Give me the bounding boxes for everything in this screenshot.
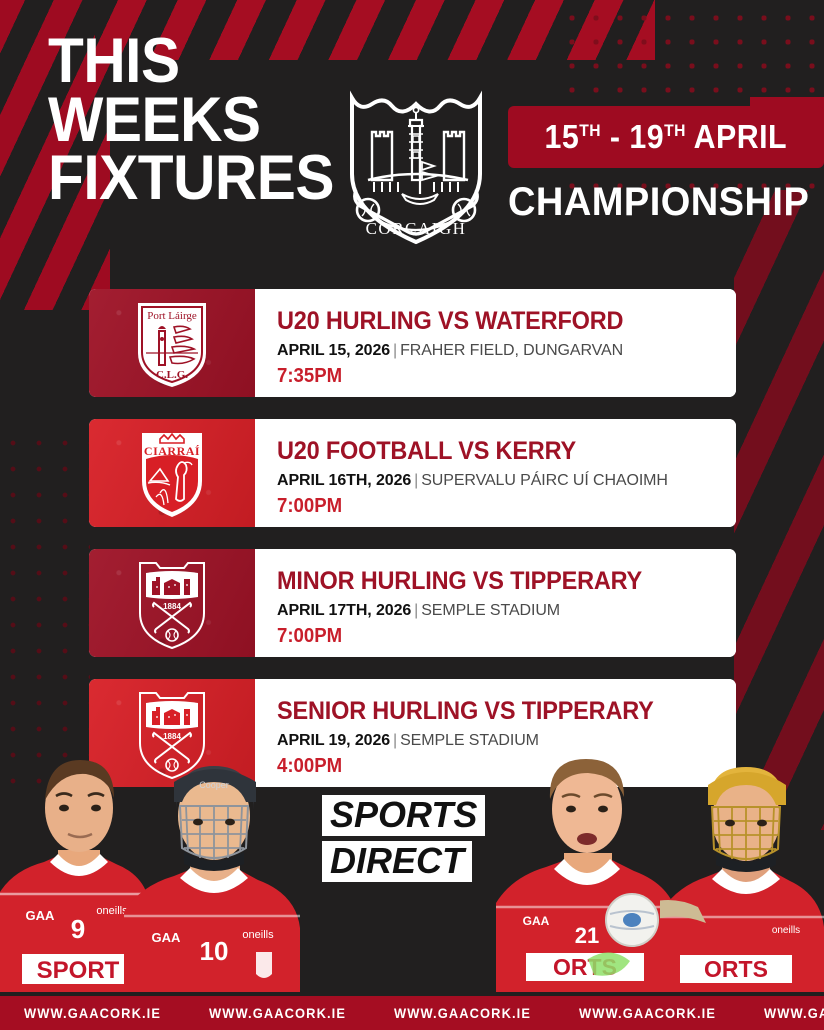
fixture-meta: APRIL 17TH, 2026|SEMPLE STADIUM <box>277 602 736 620</box>
player-photos-group: 9 GAA oneills SPORT Cooper 10 GAA oneill… <box>0 732 824 992</box>
footer-url[interactable]: WWW.GAACORK.IE <box>7 1005 177 1021</box>
fixture-date: APRIL 16TH, 2026 <box>277 472 411 489</box>
fixtures-poster: THIS WEEKS FIXTURES <box>0 0 824 1030</box>
cork-hurler-yellow-helmet: ORTS oneills <box>660 747 824 992</box>
kerry-crest-icon: CIARRAÍ <box>126 425 218 521</box>
competition-label: CHAMPIONSHIP <box>508 180 812 225</box>
jersey-number: 21 <box>575 923 599 948</box>
sponsor-line-2: DIRECT <box>322 841 472 882</box>
opponent-crest-panel: Port Láirge C.L.G. <box>89 289 255 397</box>
crest-year-label: 1884 <box>163 732 181 741</box>
football-icon <box>604 892 660 948</box>
fixture-venue: SUPERVALU PÁIRC UÍ CHAOIMH <box>421 472 668 489</box>
footer-url[interactable]: WWW.GAACORK.IE <box>192 1005 362 1021</box>
gaa-logo: GAA <box>523 914 550 928</box>
sports-direct-logo: SPORTS DIRECT <box>322 795 485 882</box>
oneills-brand: oneills <box>772 925 800 936</box>
footer-url-bar: WWW.GAACORK.IE WWW.GAACORK.IE WWW.GAACOR… <box>0 996 824 1030</box>
footer-url[interactable]: WWW.GAACORK.IE <box>747 1005 824 1021</box>
cork-gaa-crest-icon: CORCAIGH <box>338 82 498 250</box>
fixtures-list: Port Láirge C.L.G. U20 HURLING VS WATERF… <box>89 289 736 809</box>
fixture-meta: APRIL 16TH, 2026|SUPERVALU PÁIRC UÍ CHAO… <box>277 472 736 490</box>
page-title: THIS WEEKS FIXTURES <box>48 32 334 208</box>
fixture-meta: APRIL 15, 2026|FRAHER FIELD, DUNGARVAN <box>277 342 736 360</box>
fixture-title: U20 FOOTBALL VS KERRY <box>277 438 708 464</box>
fixture-title: MINOR HURLING VS TIPPERARY <box>277 568 708 594</box>
sponsor-line-1: SPORTS <box>322 795 485 836</box>
fixture-separator: | <box>393 342 397 359</box>
jersey-sponsor: SPORT <box>37 957 120 984</box>
fixture-time: 7:35PM <box>277 365 704 388</box>
date-range-badge: 15TH - 19TH APRIL <box>508 106 824 168</box>
date-range-label: 15TH - 19TH APRIL <box>545 118 787 156</box>
opponent-crest-panel: CIARRAÍ <box>89 419 255 527</box>
crest-bottom-label: C.L.G. <box>156 369 188 381</box>
footer-url[interactable]: WWW.GAACORK.IE <box>377 1005 547 1021</box>
fixture-separator: | <box>414 472 418 489</box>
fixture-venue: FRAHER FIELD, DUNGARVAN <box>400 342 623 359</box>
jersey-number: 9 <box>71 914 85 944</box>
footer-url[interactable]: WWW.GAACORK.IE <box>562 1005 732 1021</box>
fixture-title: U20 HURLING VS WATERFORD <box>277 308 708 334</box>
fixture-details: U20 HURLING VS WATERFORD APRIL 15, 2026|… <box>255 289 736 397</box>
crest-year-label: 1884 <box>163 602 181 611</box>
waterford-crest-icon: Port Láirge C.L.G. <box>126 295 218 391</box>
fixture-title: SENIOR HURLING VS TIPPERARY <box>277 698 708 724</box>
fixture-card[interactable]: 1884 MINOR HURLING VS TIPPERARY APRIL 17… <box>89 549 736 657</box>
jersey-sponsor: ORTS <box>704 956 768 982</box>
fixture-time: 7:00PM <box>277 625 704 648</box>
cork-hurler-number-10: Cooper 10 GAA oneills <box>118 752 304 992</box>
crest-motto-text: CORCAIGH <box>366 219 467 238</box>
crest-top-label: Port Láirge <box>147 310 197 322</box>
fixture-details: U20 FOOTBALL VS KERRY APRIL 16TH, 2026|S… <box>255 419 736 527</box>
cork-footballer-number-21: 21 GAA oneills ORTS <box>492 747 682 992</box>
helmet-brand: Cooper <box>199 780 229 790</box>
fixture-date: APRIL 15, 2026 <box>277 342 390 359</box>
fixture-separator: | <box>414 602 418 619</box>
jersey-number: 10 <box>200 936 229 966</box>
tipperary-crest-icon: 1884 <box>126 555 218 651</box>
gaa-logo: GAA <box>152 930 182 945</box>
crest-top-label: CIARRAÍ <box>144 444 200 458</box>
fixture-date: APRIL 17TH, 2026 <box>277 602 411 619</box>
fixture-card[interactable]: Port Láirge C.L.G. U20 HURLING VS WATERF… <box>89 289 736 397</box>
gaa-logo: GAA <box>26 908 56 923</box>
fixture-details: MINOR HURLING VS TIPPERARY APRIL 17TH, 2… <box>255 549 736 657</box>
fixture-card[interactable]: CIARRAÍ U20 FOOTBALL VS KERRY APRIL 16TH… <box>89 419 736 527</box>
opponent-crest-panel: 1884 <box>89 549 255 657</box>
tipperary-crest-icon: 1884 <box>126 685 218 781</box>
oneills-brand: oneills <box>242 929 274 941</box>
fixture-time: 7:00PM <box>277 495 704 518</box>
fixture-venue: SEMPLE STADIUM <box>421 602 560 619</box>
poster-header: THIS WEEKS FIXTURES <box>0 0 824 272</box>
